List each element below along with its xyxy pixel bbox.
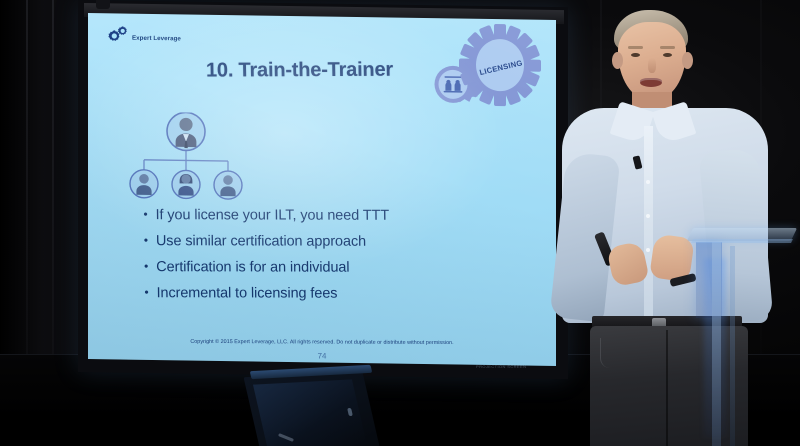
bullet-item: • If you license your ILT, you need TTT [143, 208, 523, 225]
lectern-post [730, 246, 735, 446]
bullet-text: Incremental to licensing fees [156, 286, 337, 302]
lectern-post [712, 242, 721, 446]
bullet-marker: • [144, 286, 148, 298]
bullet-marker: • [144, 234, 148, 246]
bullet-text: Certification is for an individual [156, 260, 349, 276]
presenter-nose [648, 58, 656, 73]
bullet-marker: • [144, 260, 148, 272]
screen-maker-badge: PROJECTION SCREEN [476, 364, 526, 369]
licensing-gears-graphic: LICENSING [422, 22, 544, 136]
confidence-monitor [252, 368, 402, 446]
slide-bullet-list: • If you license your ILT, you need TTT … [143, 208, 524, 313]
presenter-shirt-placket [644, 126, 653, 326]
screen-mount-bracket [96, 0, 110, 9]
projection-screen: Expert Leverage 10. Train-the-Trainer [78, 0, 568, 372]
brand-logo-text: Expert Leverage [132, 35, 181, 44]
presenter-eye [663, 53, 672, 57]
lectern [690, 228, 798, 446]
presenter-ear [682, 52, 693, 69]
slide-page-number: 74 [88, 350, 556, 361]
video-frame: Expert Leverage 10. Train-the-Trainer [0, 0, 800, 446]
org-chart-graphic [122, 112, 250, 204]
trouser-pocket [600, 338, 623, 368]
brand-logo: Expert Leverage [108, 25, 181, 43]
presentation-slide: Expert Leverage 10. Train-the-Trainer [88, 13, 556, 366]
shirt-button [646, 180, 650, 184]
presenter-ear [612, 52, 623, 69]
gear-icon [422, 22, 544, 136]
shirt-button [646, 248, 650, 252]
bullet-item: • Certification is for an individual [144, 260, 524, 277]
org-chart-icon [122, 112, 250, 204]
bullet-text: Use similar certification approach [156, 234, 366, 250]
presenter-mouth [640, 78, 662, 87]
shirt-button [646, 214, 650, 218]
gears-icon [108, 25, 130, 42]
lectern-surface-edge [691, 239, 793, 243]
bullet-item: • Incremental to licensing fees [144, 286, 524, 303]
bullet-text: If you license your ILT, you need TTT [155, 208, 389, 225]
presenter-eye [631, 53, 640, 57]
bullet-item: • Use similar certification approach [144, 234, 524, 251]
presenter-brow [660, 46, 675, 49]
slide-copyright: Copyright © 2015 Expert Leverage, LLC. A… [88, 338, 556, 346]
trouser-seam [666, 330, 668, 446]
bullet-marker: • [143, 208, 147, 220]
presenter-brow [628, 46, 643, 49]
